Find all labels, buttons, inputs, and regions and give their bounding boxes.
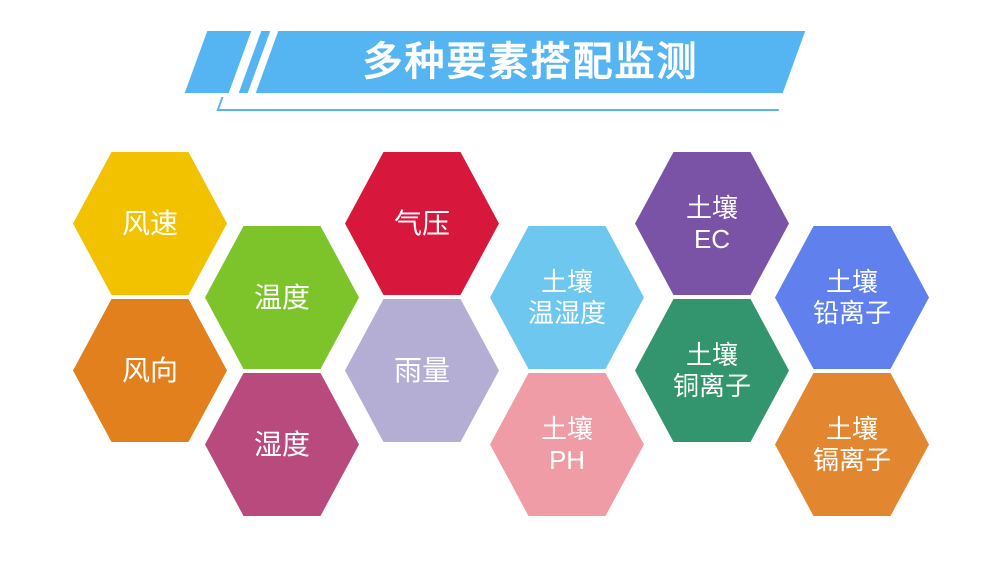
banner-underline-icon [216,97,783,111]
hex-label-line: 土壤 [541,414,593,445]
honeycomb-grid: 风速风向温度湿度气压雨量土壤温湿度土壤PH土壤EC土壤铜离子土壤铅离子土壤镉离子 [0,125,1000,565]
hex-cell-temperature[interactable]: 温度 [205,226,359,369]
hex-cell-soil-copper-ion[interactable]: 土壤铜离子 [635,299,789,442]
hex-label-line: 雨量 [394,354,450,387]
hex-label-line: 风速 [122,207,178,240]
hex-label-line: 土壤 [541,267,593,298]
hex-cell-wind-speed[interactable]: 风速 [73,152,227,295]
hex-cell-soil-ec[interactable]: 土壤EC [635,152,789,295]
hex-cell-rainfall[interactable]: 雨量 [345,299,499,442]
hex-cell-wind-direction[interactable]: 风向 [73,299,227,442]
hex-label-line: 土壤 [686,340,738,371]
title-banner: 多种要素搭配监测 [0,0,1000,125]
hex-cell-soil-lead-ion[interactable]: 土壤铅离子 [775,226,929,369]
hex-label-line: 镉离子 [813,445,891,476]
hex-label-line: EC [694,224,730,255]
hex-label-line: 土壤 [826,414,878,445]
hex-label-line: 风向 [122,354,178,387]
hex-cell-soil-cadmium-ion[interactable]: 土壤镉离子 [775,373,929,516]
hex-label-line: 铜离子 [673,371,751,402]
hex-label-line: 土壤 [826,267,878,298]
hex-cell-soil-ph[interactable]: 土壤PH [490,373,644,516]
hex-cell-soil-temp-humidity[interactable]: 土壤温湿度 [490,226,644,369]
hex-label-line: PH [549,445,585,476]
hex-label-line: 气压 [394,207,450,240]
hex-label-line: 铅离子 [813,298,891,329]
page-title: 多种要素搭配监测 [267,31,794,93]
hex-cell-humidity[interactable]: 湿度 [205,373,359,516]
hex-label-line: 温湿度 [528,298,606,329]
hex-cell-air-pressure[interactable]: 气压 [345,152,499,295]
hex-label-line: 土壤 [686,193,738,224]
hex-label-line: 温度 [254,281,310,314]
hex-label-line: 湿度 [254,428,310,461]
